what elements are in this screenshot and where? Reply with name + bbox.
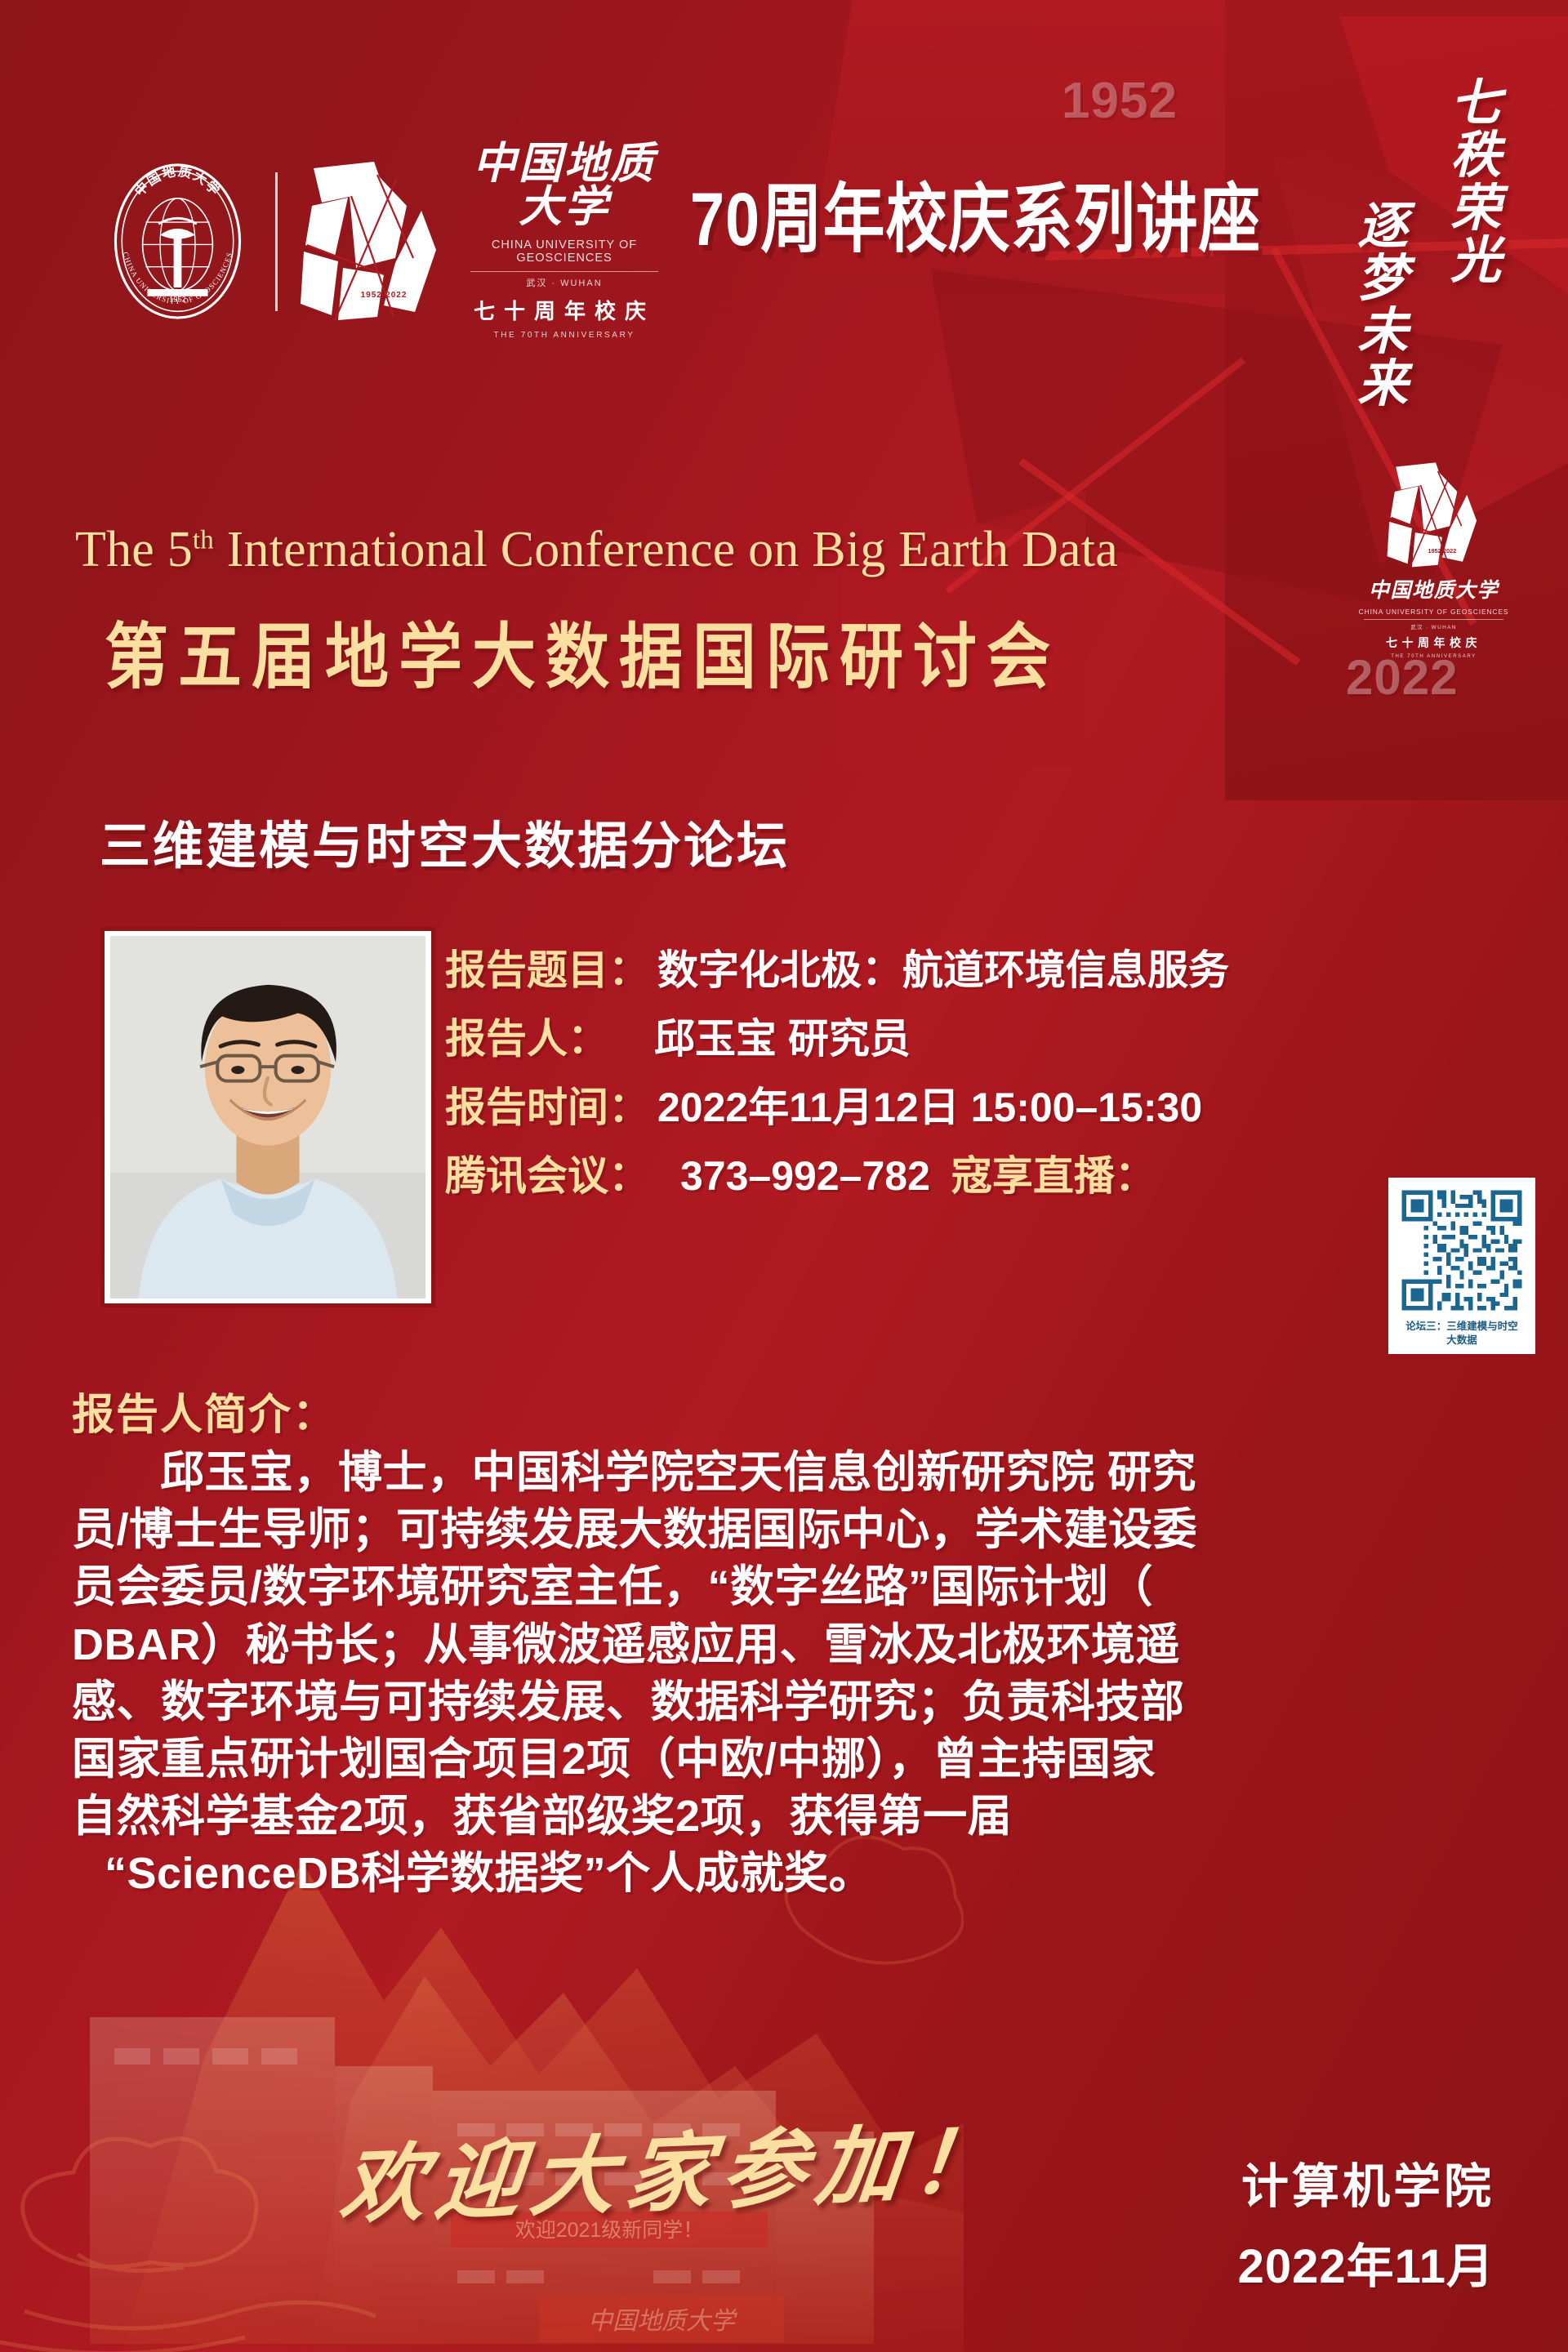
organizer-name: 计算机学院 <box>1238 2148 1494 2216</box>
university-name-cn: 中国地质大学 <box>457 143 671 229</box>
talk-info-row-topic: 报告题目： 数字化北极：航道环境信息服务 <box>445 938 1531 996</box>
emblem-rule <box>1364 619 1503 620</box>
bio-line: 国家重点研计划国合项目2项（中欧/中挪），曾主持国家 <box>72 1731 1509 1788</box>
bio-line: 员/博士生导师；可持续发展大数据国际中心，学术建设委 <box>72 1501 1509 1558</box>
bio-line: 员会委员/数字环境研究室主任，“数字丝路”国际计划（ <box>72 1558 1509 1615</box>
qr-caption-line-1: 论坛三：三维建模与时空 <box>1405 1321 1518 1332</box>
bio-line: 自然科学基金2项，获省部级奖2项，获得第一届 <box>72 1788 1509 1845</box>
university-campus: 武汉 · WUHAN <box>457 276 671 289</box>
wordmark-rule-1 <box>470 271 658 272</box>
university-wordmark: 中国地质大学 CHINA UNIVERSITY OF GEOSCIENCES 武… <box>457 143 671 340</box>
anniversary-en: THE 70TH ANNIVERSARY <box>457 331 671 340</box>
svg-text:中国地质大学: 中国地质大学 <box>131 163 224 199</box>
topic-value: 数字化北极：航道环境信息服务 <box>657 938 1229 996</box>
time-label: 报告时间： <box>445 1075 649 1134</box>
bio-line: 邱玉宝，博士，中国科学院空天信息创新研究院 研究 <box>72 1444 1509 1501</box>
meeting-label: 腾讯会议： <box>445 1143 649 1202</box>
speaker-label: 报告人： <box>445 1006 608 1065</box>
conference-title-en-pre: The 5 <box>75 522 193 577</box>
emblem-anniversary-cn: 七十周年校庆 <box>1346 635 1521 651</box>
lecture-series-title: 70周年校庆系列讲座 <box>690 159 1261 267</box>
speaker-portrait <box>109 936 426 1298</box>
time-value: 2022年11月12日 15:00–15:30 <box>657 1075 1202 1134</box>
conference-title-cn: 第五届地学大数据国际研讨会 <box>105 600 1060 702</box>
seal-year-text: 1952 <box>169 296 186 304</box>
mark-years-text: 1952-2022 <box>361 291 408 300</box>
talk-info-row-time: 报告时间： 2022年11月12日 15:00–15:30 <box>445 1075 1531 1134</box>
university-name-en: CHINA UNIVERSITY OF GEOSCIENCES <box>457 238 671 265</box>
bio-line: “ScienceDB科学数据奖”个人成就奖。 <box>72 1845 1509 1902</box>
calligraphy-future: 逐梦未来 <box>1354 201 1411 412</box>
secondary-university-emblem: 1952-2022 中国地质大学 CHINA UNIVERSITY OF GEO… <box>1346 461 1521 659</box>
emblem-name-cn: 中国地质大学 <box>1346 574 1521 604</box>
talk-info-table: 报告题目： 数字化北极：航道环境信息服务 报告人： 邱玉宝 研究员 报告时间： … <box>445 938 1531 1212</box>
conference-title-en: The 5th International Conference on Big … <box>75 521 1333 579</box>
anniversary-cn: 七十周年校庆 <box>457 295 671 325</box>
bio-line: DBAR）秘书长；从事微波遥感应用、雪冰及北极环境遥 <box>72 1616 1509 1673</box>
seal-cn-text: 中国地质大学 <box>131 163 224 199</box>
qr-code-card[interactable]: 论坛三：三维建模与时空 大数据 <box>1388 1178 1535 1354</box>
emblem-anniversary-en: THE 70TH ANNIVERSARY <box>1346 654 1521 659</box>
bio-heading: 报告人简介： <box>72 1380 336 1441</box>
anniversary-70-mark-small-icon: 1952-2022 <box>1386 461 1482 569</box>
emblem-name-en: CHINA UNIVERSITY OF GEOSCIENCES <box>1346 608 1521 616</box>
footer-organizer-block: 计算机学院 2022年11月 <box>1238 2148 1494 2296</box>
talk-info-row-speaker: 报告人： 邱玉宝 研究员 <box>445 1006 1531 1065</box>
speaker-value: 邱玉宝 研究员 <box>654 1006 911 1065</box>
calligraphy-glory: 七秩荣光 <box>1447 78 1504 288</box>
qr-caption-line-2: 大数据 <box>1446 1334 1477 1346</box>
topic-label: 报告题目： <box>445 938 649 996</box>
conference-title-ordinal: th <box>193 525 214 555</box>
bio-body: 邱玉宝，博士，中国科学院空天信息创新研究院 研究 员/博士生导师；可持续发展大数… <box>72 1444 1509 1903</box>
conference-title-en-post: International Conference on Big Earth Da… <box>214 522 1118 577</box>
bio-line: 感、数字环境与可持续发展、数据科学研究；负责科技部 <box>72 1673 1509 1731</box>
poster-date: 2022年11月 <box>1238 2228 1494 2296</box>
meeting-id-value: 373–992–782 <box>680 1152 930 1200</box>
poster-root: 欢迎2021级新同学！ 中国地质大学 <box>0 0 1568 2352</box>
header-logo-lockup: 中国地质大学 CHINA UNIVERSITY OF GEOSCIENCES 1… <box>98 143 671 340</box>
live-stream-label: 寇享直播： <box>951 1143 1156 1202</box>
year-start-watermark: 1952 <box>1062 72 1178 130</box>
mark-years-small-text: 1952-2022 <box>1428 547 1456 555</box>
speaker-photo-frame <box>105 931 431 1303</box>
logo-divider <box>275 172 278 311</box>
forum-title: 三维建模与时空大数据分论坛 <box>100 804 790 878</box>
emblem-campus: 武汉 · WUHAN <box>1346 623 1521 630</box>
welcome-message: 欢迎大家参加！ <box>335 2091 1013 2239</box>
university-seal-icon: 中国地质大学 CHINA UNIVERSITY OF GEOSCIENCES 1… <box>98 162 257 321</box>
qr-code-icon[interactable] <box>1397 1186 1526 1315</box>
talk-info-row-meeting: 腾讯会议： 373–992–782 寇享直播： <box>445 1143 1531 1202</box>
qr-caption: 论坛三：三维建模与时空 大数据 <box>1395 1320 1529 1347</box>
anniversary-70-mark-icon: 1952-2022 <box>299 160 444 323</box>
